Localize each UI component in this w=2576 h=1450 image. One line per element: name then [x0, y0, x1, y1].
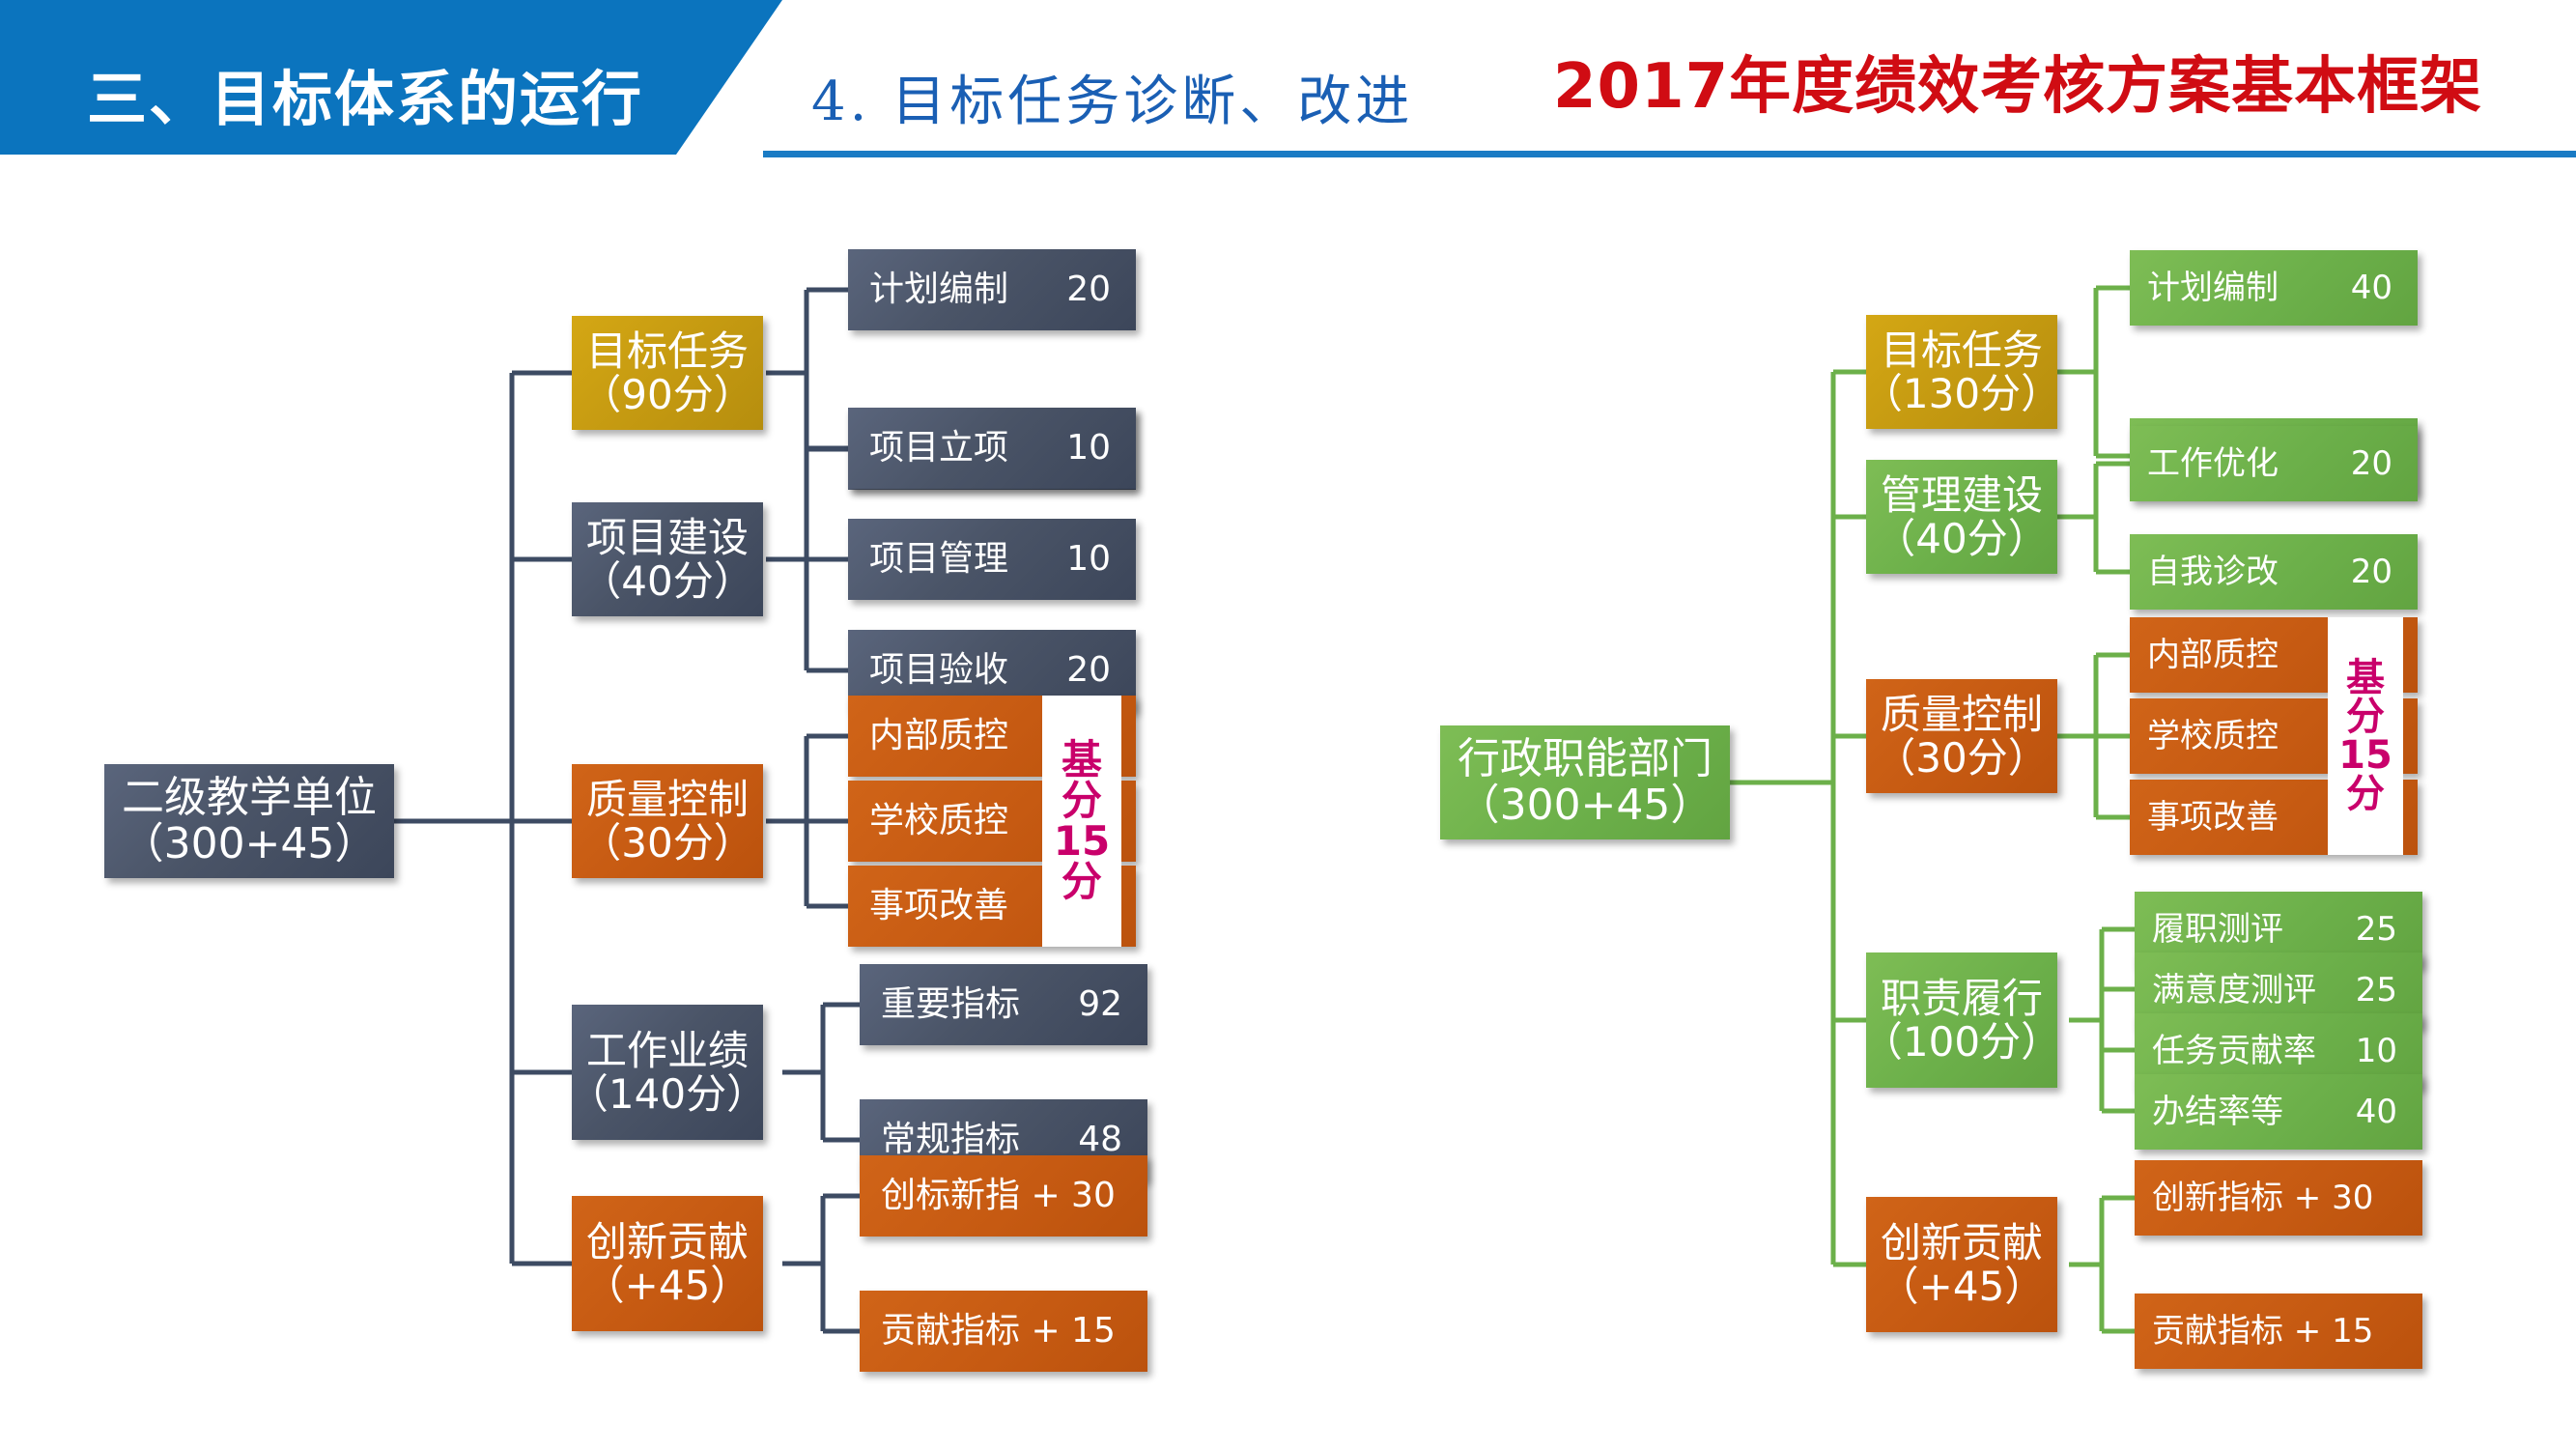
leaf-label: 项目验收 — [869, 652, 1008, 690]
left-leaf-project-management[interactable]: 项目管理 10 — [848, 519, 1136, 600]
org-chart-diagram: 二级教学单位 （300+45） 目标任务 （90分） 计划编制 20 任务完成 … — [0, 166, 2576, 1450]
leaf-label: 学校质控 — [2147, 719, 2279, 754]
right-root-line2: （300+45） — [1458, 782, 1713, 829]
base-score-char: 15 — [2338, 736, 2392, 775]
leaf-label: 事项改善 — [869, 888, 1008, 925]
category-score: （30分） — [1875, 736, 2048, 780]
leaf-label: 学校质控 — [869, 803, 1008, 840]
category-score: （30分） — [580, 821, 753, 865]
leaf-label: 任务贡献率 — [2152, 1034, 2316, 1069]
leaf-label: 满意度测评 — [2152, 973, 2316, 1009]
right-category-innovation-contribution[interactable]: 创新贡献 （+45） — [1866, 1197, 2057, 1332]
category-score: （40分） — [580, 559, 753, 603]
right-category-management-construction[interactable]: 管理建设 （40分） — [1866, 460, 2057, 574]
section-banner-label: 三、目标体系的运行 — [87, 50, 643, 137]
right-leaf-completion-rate[interactable]: 办结率等 40 — [2135, 1074, 2422, 1150]
leaf-value: 10 — [1066, 430, 1136, 468]
base-score-char: 15 — [1054, 821, 1110, 862]
leaf-value: 40 — [2356, 1095, 2422, 1130]
leaf-label: 创新指标 + 30 — [2152, 1180, 2373, 1216]
leaf-label: 项目立项 — [869, 430, 1008, 468]
left-category-innovation-contribution[interactable]: 创新贡献 （+45） — [572, 1196, 763, 1331]
leaf-label: 工作优化 — [2147, 446, 2279, 482]
right-root-line1: 行政职能部门 — [1458, 736, 1713, 782]
leaf-label: 贡献指标 + 15 — [881, 1313, 1116, 1350]
base-score-char: 基 — [2346, 659, 2385, 697]
category-label: 目标任务 — [586, 329, 749, 373]
left-leaf-project-initiation[interactable]: 项目立项 10 — [848, 408, 1136, 489]
left-leaf-key-indicator[interactable]: 重要指标 92 — [860, 964, 1147, 1045]
slide-title: 2017年度绩效考核方案基本框架 — [1553, 37, 2482, 126]
leaf-label: 创标新指 + 30 — [881, 1178, 1116, 1215]
leaf-label: 内部质控 — [869, 718, 1008, 755]
right-leaf-contribution-indicator[interactable]: 贡献指标 + 15 — [2135, 1294, 2422, 1369]
leaf-label: 计划编制 — [869, 271, 1008, 309]
leaf-label: 内部质控 — [2147, 638, 2279, 673]
category-score: （100分） — [1866, 1020, 2057, 1064]
slide-subtitle: 4. 目标任务诊断、改进 — [811, 58, 1413, 136]
leaf-label: 事项改善 — [2147, 800, 2279, 836]
base-score-char: 基 — [1062, 740, 1102, 781]
base-score-char: 分 — [1062, 862, 1102, 902]
left-category-project-construction[interactable]: 项目建设 （40分） — [572, 502, 763, 616]
category-score: （140分） — [572, 1072, 763, 1116]
leaf-label: 贡献指标 + 15 — [2152, 1314, 2373, 1350]
leaf-label: 常规指标 — [881, 1122, 1020, 1159]
right-leaf-self-diagnosis[interactable]: 自我诊改 20 — [2130, 534, 2418, 610]
right-category-goal-task[interactable]: 目标任务 （130分） — [1866, 315, 2057, 429]
right-root-node[interactable]: 行政职能部门 （300+45） — [1440, 725, 1730, 839]
left-category-work-performance[interactable]: 工作业绩 （140分） — [572, 1005, 763, 1140]
leaf-label: 项目管理 — [869, 541, 1008, 579]
category-label: 创新贡献 — [1881, 1221, 2043, 1265]
category-label: 目标任务 — [1881, 328, 2043, 372]
category-label: 管理建设 — [1881, 473, 2043, 517]
right-base-score-panel: 基 分 15 分 — [2328, 617, 2403, 855]
leaf-value: 25 — [2356, 973, 2422, 1009]
leaf-label: 自我诊改 — [2147, 554, 2279, 590]
base-score-char: 分 — [1062, 781, 1102, 821]
leaf-value: 20 — [1066, 652, 1136, 690]
leaf-value: 20 — [1066, 271, 1136, 309]
category-label: 质量控制 — [586, 778, 749, 821]
left-leaf-plan-preparation[interactable]: 计划编制 20 — [848, 249, 1136, 330]
right-leaf-work-optimization[interactable]: 工作优化 20 — [2130, 426, 2418, 501]
leaf-value: 25 — [2356, 912, 2422, 948]
category-score: （40分） — [1875, 517, 2048, 560]
right-leaf-innovation-indicator[interactable]: 创新指标 + 30 — [2135, 1160, 2422, 1236]
category-label: 创新贡献 — [586, 1220, 749, 1264]
category-score: （+45） — [584, 1264, 751, 1307]
leaf-label: 履职测评 — [2152, 912, 2283, 948]
category-label: 工作业绩 — [586, 1029, 749, 1072]
left-leaf-new-standard-indicator[interactable]: 创标新指 + 30 — [860, 1155, 1147, 1237]
right-leaf-plan-preparation[interactable]: 计划编制 40 — [2130, 250, 2418, 326]
leaf-value: 92 — [1078, 986, 1147, 1024]
left-leaf-contribution-indicator[interactable]: 贡献指标 + 15 — [860, 1291, 1147, 1372]
left-category-quality-control[interactable]: 质量控制 （30分） — [572, 764, 763, 878]
category-score: （90分） — [580, 373, 753, 416]
left-root-line2: （300+45） — [122, 821, 378, 867]
category-label: 职责履行 — [1881, 977, 2043, 1020]
base-score-char: 分 — [2346, 775, 2385, 813]
right-category-quality-control[interactable]: 质量控制 （30分） — [1866, 679, 2057, 793]
leaf-value: 20 — [2351, 554, 2418, 590]
category-score: （130分） — [1866, 372, 2057, 415]
base-score-char: 分 — [2346, 697, 2385, 736]
left-base-score-panel: 基 分 15 分 — [1042, 696, 1121, 947]
leaf-value: 20 — [2351, 446, 2418, 482]
leaf-value: 10 — [2356, 1034, 2422, 1069]
leaf-label: 办结率等 — [2152, 1095, 2283, 1130]
category-score: （+45） — [1879, 1265, 2046, 1308]
leaf-value: 40 — [2351, 270, 2418, 306]
left-root-node[interactable]: 二级教学单位 （300+45） — [104, 764, 394, 878]
leaf-value: 48 — [1078, 1122, 1147, 1159]
header-divider — [763, 151, 2576, 157]
slide-header: 三、目标体系的运行 4. 目标任务诊断、改进 2017年度绩效考核方案基本框架 — [0, 0, 2576, 166]
leaf-label: 计划编制 — [2147, 270, 2279, 306]
category-label: 质量控制 — [1881, 693, 2043, 736]
left-category-goal-task[interactable]: 目标任务 （90分） — [572, 316, 763, 430]
right-category-duty-fulfillment[interactable]: 职责履行 （100分） — [1866, 952, 2057, 1088]
category-label: 项目建设 — [586, 516, 749, 559]
leaf-value: 10 — [1066, 541, 1136, 579]
left-root-line1: 二级教学单位 — [122, 775, 377, 821]
leaf-label: 重要指标 — [881, 986, 1020, 1024]
